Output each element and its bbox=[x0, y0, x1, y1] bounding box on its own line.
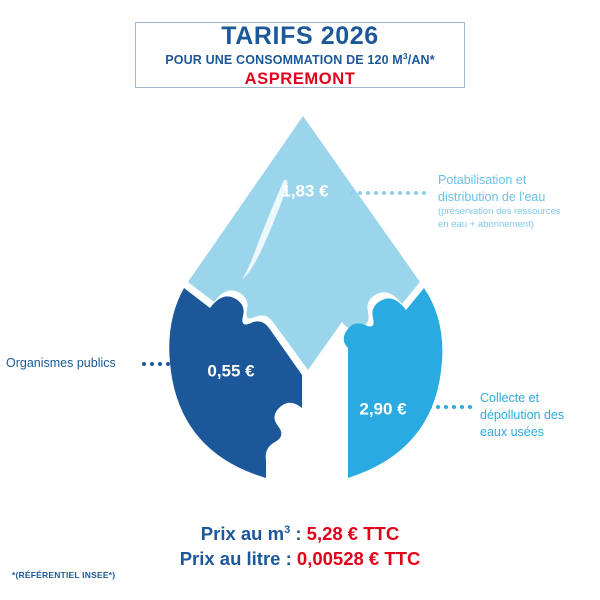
segment-value-potabilisation: 1,83 € bbox=[281, 181, 329, 200]
dot bbox=[350, 191, 354, 195]
dot bbox=[460, 405, 464, 409]
city-name: ASPREMONT bbox=[245, 70, 356, 89]
callout-text-collecte: Collecte et dépollution des eaux usées bbox=[480, 390, 600, 441]
dot bbox=[358, 191, 362, 195]
dot bbox=[174, 362, 178, 366]
dot bbox=[150, 362, 154, 366]
connector-dots-potabilisation bbox=[350, 191, 426, 195]
callout-sub-line1: (préservation des ressources bbox=[438, 206, 598, 218]
droplet-puzzle-chart: 1,83 € 0,55 € 2,90 € bbox=[168, 108, 444, 484]
dot bbox=[158, 362, 162, 366]
price-per-m3-separator: : bbox=[290, 523, 306, 544]
title-card: TARIFS 2026 POUR UNE CONSOMMATION DE 120… bbox=[135, 22, 465, 88]
segment-value-organismes: 0,55 € bbox=[207, 361, 255, 380]
page-title: TARIFS 2026 bbox=[221, 23, 379, 49]
dot bbox=[406, 191, 410, 195]
infographic-page: TARIFS 2026 POUR UNE CONSOMMATION DE 120… bbox=[0, 0, 600, 600]
price-per-m3-value: 5,28 € TTC bbox=[307, 523, 400, 544]
callout-title-line3: eaux usées bbox=[480, 424, 600, 441]
callout-sub-line2: en eau + abonnement) bbox=[438, 219, 598, 231]
price-per-litre-label: Prix au litre : bbox=[180, 548, 297, 569]
dot bbox=[398, 191, 402, 195]
dot bbox=[414, 191, 418, 195]
price-summary: Prix au m3 : 5,28 € TTC Prix au litre : … bbox=[0, 522, 600, 572]
dot bbox=[166, 362, 170, 366]
title-subtitle-prefix: POUR UNE CONSOMMATION DE 120 M bbox=[165, 53, 403, 67]
footnote: *(RÉFÉRENTIEL INSEE*) bbox=[12, 570, 115, 580]
callout-title-line2: distribution de l'eau bbox=[438, 189, 598, 206]
callout-title-line2: dépollution des bbox=[480, 407, 600, 424]
dot bbox=[142, 362, 146, 366]
dot bbox=[422, 191, 426, 195]
dot bbox=[382, 191, 386, 195]
dot bbox=[374, 191, 378, 195]
price-per-m3-label: Prix au m bbox=[201, 523, 284, 544]
dot bbox=[390, 191, 394, 195]
price-per-litre-value: 0,00528 € TTC bbox=[297, 548, 420, 569]
title-subtitle: POUR UNE CONSOMMATION DE 120 M3/AN* bbox=[165, 50, 435, 70]
price-per-litre: Prix au litre : 0,00528 € TTC bbox=[0, 547, 600, 572]
dot bbox=[468, 405, 472, 409]
dot bbox=[420, 405, 424, 409]
dot bbox=[366, 191, 370, 195]
title-subtitle-suffix: /AN* bbox=[408, 53, 435, 67]
droplet-svg: 1,83 € 0,55 € 2,90 € bbox=[168, 108, 444, 484]
callout-title-line1: Potabilisation et bbox=[438, 172, 598, 189]
callout-title-line1: Collecte et bbox=[480, 390, 600, 407]
connector-dots-collecte bbox=[420, 405, 472, 409]
dot bbox=[428, 405, 432, 409]
price-per-m3: Prix au m3 : 5,28 € TTC bbox=[0, 522, 600, 547]
connector-dots-organismes bbox=[142, 362, 186, 366]
dot bbox=[182, 362, 186, 366]
dot bbox=[444, 405, 448, 409]
dot bbox=[436, 405, 440, 409]
callout-text-potabilisation: Potabilisation et distribution de l'eau … bbox=[438, 172, 598, 232]
segment-value-collecte: 2,90 € bbox=[359, 399, 407, 418]
callout-text-organismes: Organismes publics bbox=[6, 355, 116, 372]
dot bbox=[452, 405, 456, 409]
